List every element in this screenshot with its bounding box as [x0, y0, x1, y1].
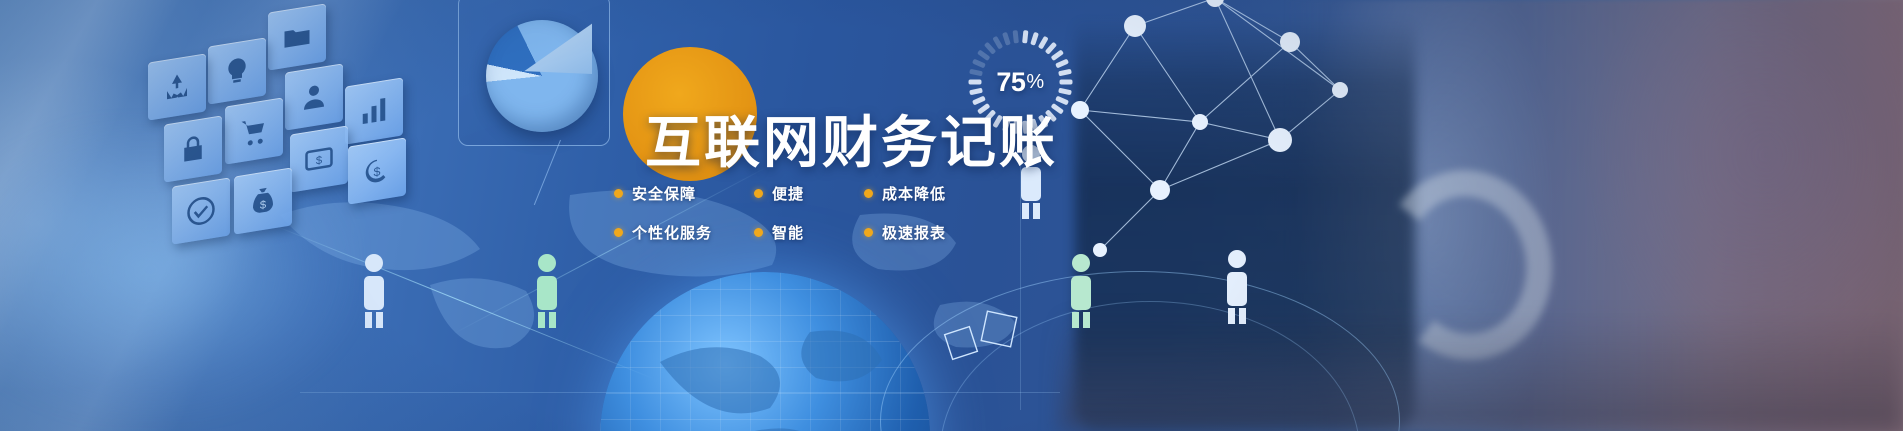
feature-row: 安全保障 便捷 成本降低 [614, 183, 1014, 204]
feature-label: 安全保障 [632, 183, 696, 204]
feature-label: 个性化服务 [632, 222, 712, 243]
finance-banner: $ $ $ 75% [0, 0, 1903, 431]
feature-item-cost-reduction[interactable]: 成本降低 [864, 183, 946, 204]
bullet-dot-icon [614, 189, 623, 198]
feature-item-security[interactable]: 安全保障 [614, 183, 754, 204]
feature-item-intelligent[interactable]: 智能 [754, 222, 864, 243]
feature-label: 成本降低 [882, 183, 946, 204]
feature-row: 个性化服务 智能 极速报表 [614, 222, 1014, 243]
bullet-dot-icon [754, 228, 763, 237]
bullet-dot-icon [864, 228, 873, 237]
feature-item-personalized[interactable]: 个性化服务 [614, 222, 754, 243]
bullet-dot-icon [754, 189, 763, 198]
feature-label: 极速报表 [882, 222, 946, 243]
feature-list: 安全保障 便捷 成本降低 个性化服务 智能 极速报表 [614, 183, 1014, 261]
feature-label: 智能 [772, 222, 804, 243]
feature-label: 便捷 [772, 183, 804, 204]
bullet-dot-icon [614, 228, 623, 237]
page-title: 互联网财务记账 [645, 98, 1058, 179]
feature-item-fast-reports[interactable]: 极速报表 [864, 222, 946, 243]
bullet-dot-icon [864, 189, 873, 198]
feature-item-convenient[interactable]: 便捷 [754, 183, 864, 204]
